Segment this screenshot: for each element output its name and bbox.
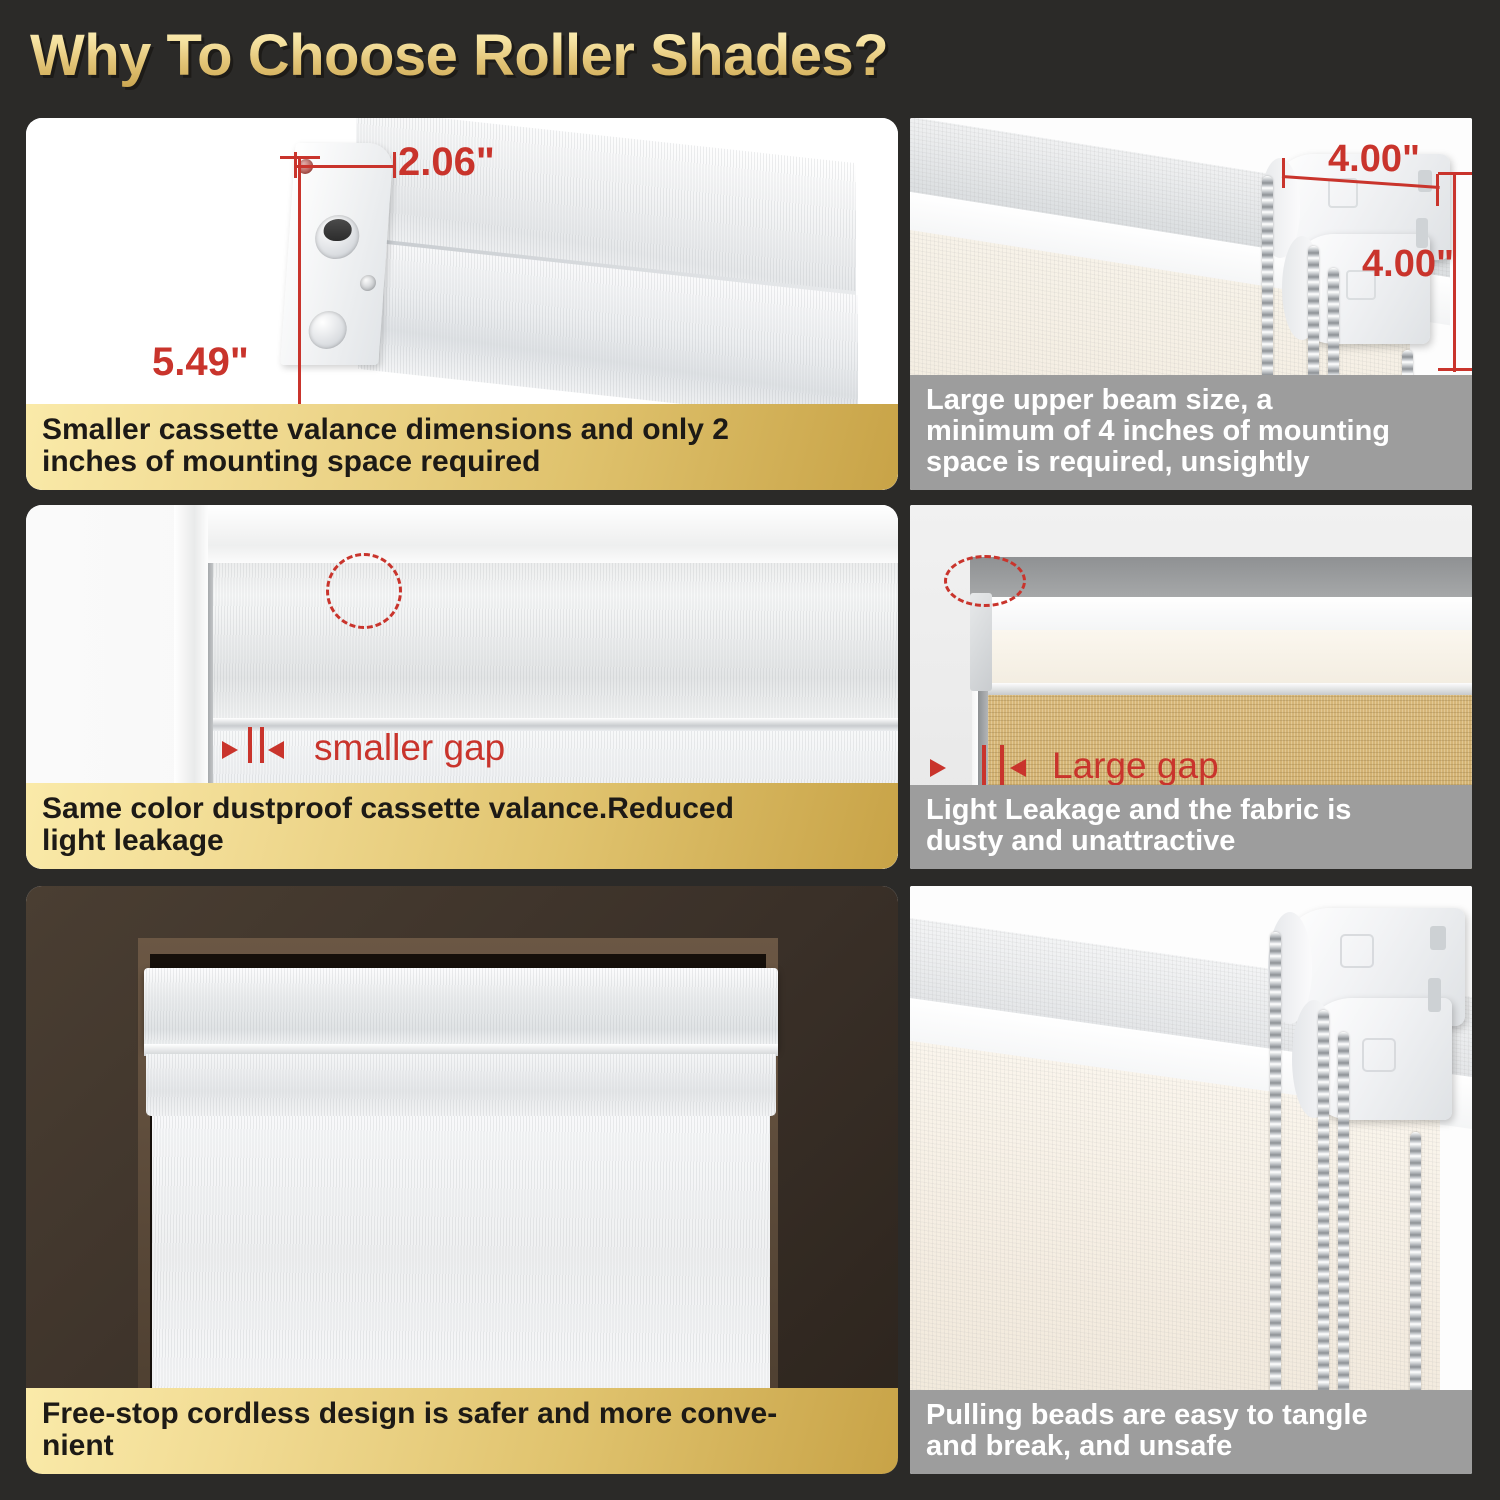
gap-marker: [248, 727, 252, 763]
dimension-label-width-4: 4.00": [1328, 138, 1420, 181]
caption-line: minimum of 4 inches of mounting: [926, 416, 1456, 447]
page-title: Why To Choose Roller Shades?: [30, 22, 888, 89]
cream-valance: [980, 630, 1472, 690]
gap-arrow-left: [930, 759, 946, 777]
caption-bottom-right: Pulling beads are easy to tangle and bre…: [910, 1390, 1472, 1474]
highlight-circle: [326, 553, 402, 629]
dimension-label-2-06: 2.06": [398, 140, 495, 185]
gap-marker: [1000, 745, 1004, 785]
upper-shadow-band: [970, 557, 1472, 599]
dimension-label-height-4: 4.00": [1362, 243, 1454, 286]
cassette-valance: [144, 968, 778, 1050]
highlight-circle: [944, 555, 1026, 607]
panel-bottom-right: Pulling beads are easy to tangle and bre…: [910, 886, 1472, 1474]
caption-line: Large upper beam size, a: [926, 385, 1456, 416]
caption-line: dusty and unattractive: [926, 826, 1456, 857]
caption-line: space is required, unsightly: [926, 447, 1456, 478]
valance-rail: [980, 683, 1472, 695]
caption-line: Smaller cassette valance dimensions and …: [42, 414, 882, 446]
caption-line: light leakage: [42, 825, 882, 857]
gap-arrow-left: [222, 741, 238, 759]
valance-rail: [208, 718, 898, 731]
panel-top-right: 4.00" 4.00" Large upper beam size, a min…: [910, 118, 1472, 490]
panel-middle-left: smaller gap Same color dustproof cassett…: [26, 505, 898, 869]
caption-line: Free-stop cordless design is safer and m…: [42, 1398, 882, 1430]
panel-bottom-left: Free-stop cordless design is safer and m…: [26, 886, 898, 1474]
caption-middle-right: Light Leakage and the fabric is dusty an…: [910, 785, 1472, 869]
gap-marker: [982, 745, 986, 785]
caption-bottom-left: Free-stop cordless design is safer and m…: [26, 1388, 898, 1474]
gap-arrow-right: [268, 741, 284, 759]
gap-label-smaller: smaller gap: [314, 727, 505, 769]
dimension-label-5-49: 5.49": [152, 340, 249, 385]
gap-marker: [260, 727, 264, 763]
caption-line: Light Leakage and the fabric is: [926, 795, 1456, 826]
window-frame-top: [174, 505, 898, 563]
caption-line: Same color dustproof cassette valance.Re…: [42, 793, 882, 825]
gap-arrow-right: [1010, 759, 1026, 777]
cassette-valance: [208, 563, 898, 723]
panel-middle-right: Large gap Light Leakage and the fabric i…: [910, 505, 1472, 869]
caption-top-left: Smaller cassette valance dimensions and …: [26, 404, 898, 490]
caption-top-right: Large upper beam size, a minimum of 4 in…: [910, 375, 1472, 490]
panel-bottom-right-image: [910, 886, 1472, 1474]
caption-middle-left: Same color dustproof cassette valance.Re…: [26, 783, 898, 869]
caption-line: nient: [42, 1430, 882, 1462]
cassette-valance-lower: [146, 1054, 776, 1116]
caption-line: and break, and unsafe: [926, 1431, 1456, 1462]
mounting-clip: [970, 593, 992, 691]
gap-label-large: Large gap: [1052, 745, 1219, 787]
panel-bottom-left-image: [26, 886, 898, 1474]
caption-line: inches of mounting space required: [42, 446, 882, 478]
caption-line: Pulling beads are easy to tangle: [926, 1400, 1456, 1431]
panel-top-left: 2.06" 5.49" Smaller cassette valance dim…: [26, 118, 898, 490]
